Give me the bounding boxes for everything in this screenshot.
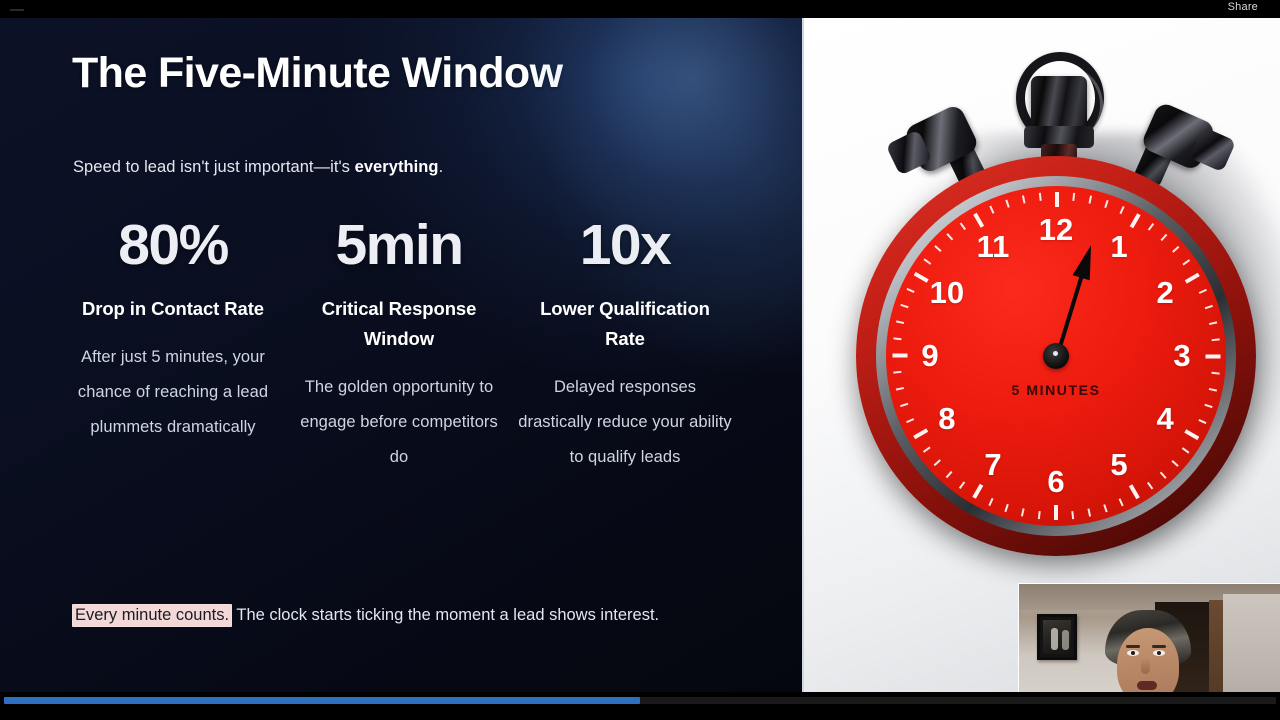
- stat-card-response-window: 5min Critical Response Window The golden…: [286, 210, 512, 475]
- stat-label: Drop in Contact Rate: [66, 294, 280, 324]
- stat-label: Critical Response Window: [292, 294, 506, 354]
- subtitle-emphasis: everything: [355, 158, 439, 176]
- stopwatch-bezel: 5 MINUTES 121234567891011: [876, 176, 1236, 536]
- slide-subtitle: Speed to lead isn't just important—it's …: [73, 158, 443, 177]
- panel-divider: [802, 18, 804, 692]
- stat-description: The golden opportunity to engage before …: [292, 370, 506, 475]
- window-minimize-icon[interactable]: [10, 9, 24, 11]
- stopwatch-dial: 5 MINUTES 121234567891011: [886, 186, 1226, 526]
- dial-numeral: 4: [1143, 402, 1187, 436]
- stat-card-qualification-rate: 10x Lower Qualification Rate Delayed res…: [512, 210, 738, 475]
- stat-columns: 80% Drop in Contact Rate After just 5 mi…: [60, 210, 760, 475]
- webcam-right-wall: [1223, 594, 1280, 692]
- stat-card-contact-rate: 80% Drop in Contact Rate After just 5 mi…: [60, 210, 286, 475]
- stat-value: 10x: [518, 210, 732, 280]
- stat-value: 5min: [292, 210, 506, 280]
- closing-statement: Every minute counts. The clock starts ti…: [72, 598, 712, 633]
- dial-numeral: 2: [1143, 276, 1187, 310]
- dial-numeral: 7: [971, 448, 1015, 482]
- stopwatch-crown-icon: [1031, 76, 1087, 132]
- share-button[interactable]: Share: [1228, 1, 1258, 10]
- closing-highlight: Every minute counts.: [72, 604, 232, 627]
- webcam-presenter-avatar: [1091, 610, 1211, 692]
- webcam-wall-picture-frame: [1037, 614, 1077, 660]
- stat-value: 80%: [66, 210, 280, 280]
- closing-rest: The clock starts ticking the moment a le…: [232, 606, 659, 624]
- stopwatch-case: 5 MINUTES 121234567891011: [856, 156, 1256, 556]
- player-progress-area: [0, 692, 1280, 720]
- progress-bar-fill: [4, 697, 640, 704]
- slide-text-panel: The Five-Minute Window Speed to lead isn…: [0, 18, 802, 692]
- dial-numeral: 11: [971, 230, 1015, 264]
- dial-numeral: 1: [1097, 230, 1141, 264]
- progress-bar-track[interactable]: [4, 697, 1276, 704]
- top-chrome-bar: Share: [0, 0, 1280, 18]
- dial-numeral: 5: [1097, 448, 1141, 482]
- dial-numeral: 3: [1160, 339, 1204, 373]
- subtitle-prefix: Speed to lead isn't just important—it's: [73, 158, 355, 176]
- dial-numeral: 8: [925, 402, 969, 436]
- dial-numeral: 12: [1034, 213, 1078, 247]
- dial-numeral: 6: [1034, 465, 1078, 499]
- dial-numeral: 10: [925, 276, 969, 310]
- screen-root: Share The Five-Minute Window Speed to le…: [0, 0, 1280, 720]
- stat-description: Delayed responses drastically reduce you…: [518, 370, 732, 475]
- presentation-slide[interactable]: The Five-Minute Window Speed to lead isn…: [0, 18, 1280, 692]
- dial-numeral: 9: [908, 339, 952, 373]
- subtitle-suffix: .: [439, 158, 444, 176]
- stopwatch-illustration: 5 MINUTES 121234567891011: [838, 28, 1268, 628]
- stat-label: Lower Qualification Rate: [518, 294, 732, 354]
- webcam-door-frame: [1209, 600, 1223, 692]
- stat-description: After just 5 minutes, your chance of rea…: [66, 340, 280, 445]
- slide-title: The Five-Minute Window: [72, 46, 562, 100]
- webcam-overlay[interactable]: [1018, 583, 1280, 692]
